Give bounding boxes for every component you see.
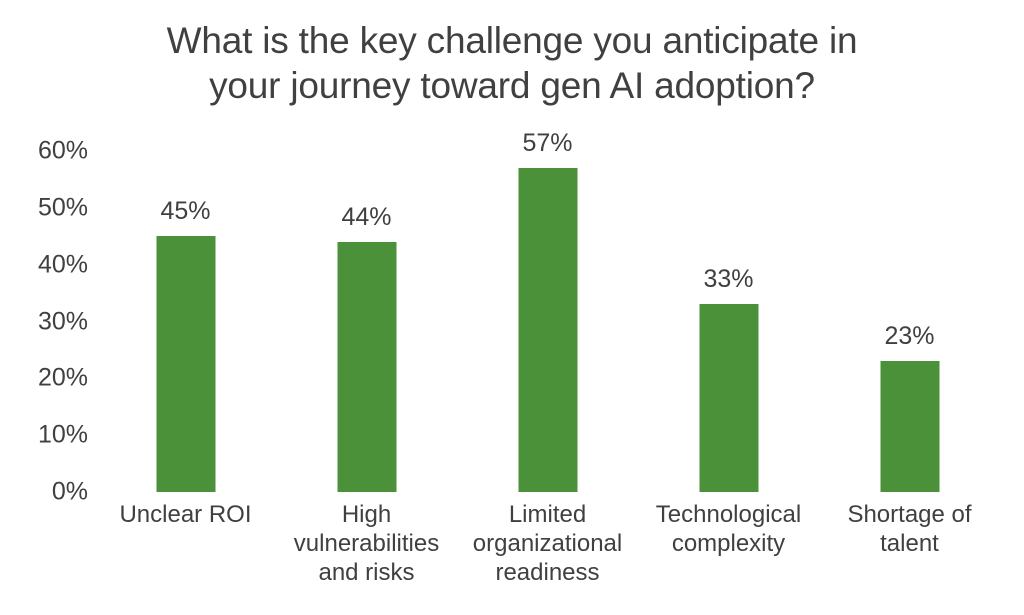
x-axis-category-label: Technological complexity (638, 500, 819, 558)
bar-value-label: 44% (341, 205, 391, 230)
bar-value-label: 33% (703, 267, 753, 292)
x-axis-category-label: Limited organizational readiness (457, 500, 638, 587)
y-axis: 60%50%40%30%20%10%0% (0, 151, 88, 492)
bar-slot: 45% (95, 151, 276, 492)
bar-slot: 33% (638, 151, 819, 492)
bar-slot: 23% (819, 151, 1000, 492)
chart-title: What is the key challenge you anticipate… (60, 18, 964, 108)
bar[interactable] (699, 304, 758, 492)
y-axis-tick: 30% (0, 309, 88, 334)
plot-area: 45%44%57%33%23% (95, 151, 1000, 492)
bar-value-label: 57% (522, 131, 572, 156)
y-axis-tick: 40% (0, 252, 88, 277)
bar[interactable] (518, 168, 577, 492)
y-axis-tick: 50% (0, 195, 88, 220)
y-axis-tick: 0% (0, 480, 88, 505)
x-axis-category-label: High vulnerabilities and risks (276, 500, 457, 587)
bar-value-label: 23% (884, 324, 934, 349)
y-axis-tick: 10% (0, 423, 88, 448)
bar-slot: 44% (276, 151, 457, 492)
bar[interactable] (156, 236, 215, 492)
bar-value-label: 45% (160, 199, 210, 224)
x-axis-labels: Unclear ROIHigh vulnerabilities and risk… (95, 500, 1000, 610)
y-axis-tick: 20% (0, 366, 88, 391)
bar-chart: What is the key challenge you anticipate… (0, 0, 1024, 615)
y-axis-tick: 60% (0, 139, 88, 164)
x-axis-category-label: Shortage of talent (819, 500, 1000, 558)
bar[interactable] (337, 242, 396, 492)
bar-slot: 57% (457, 151, 638, 492)
bar[interactable] (880, 361, 939, 492)
x-axis-category-label: Unclear ROI (95, 500, 276, 529)
